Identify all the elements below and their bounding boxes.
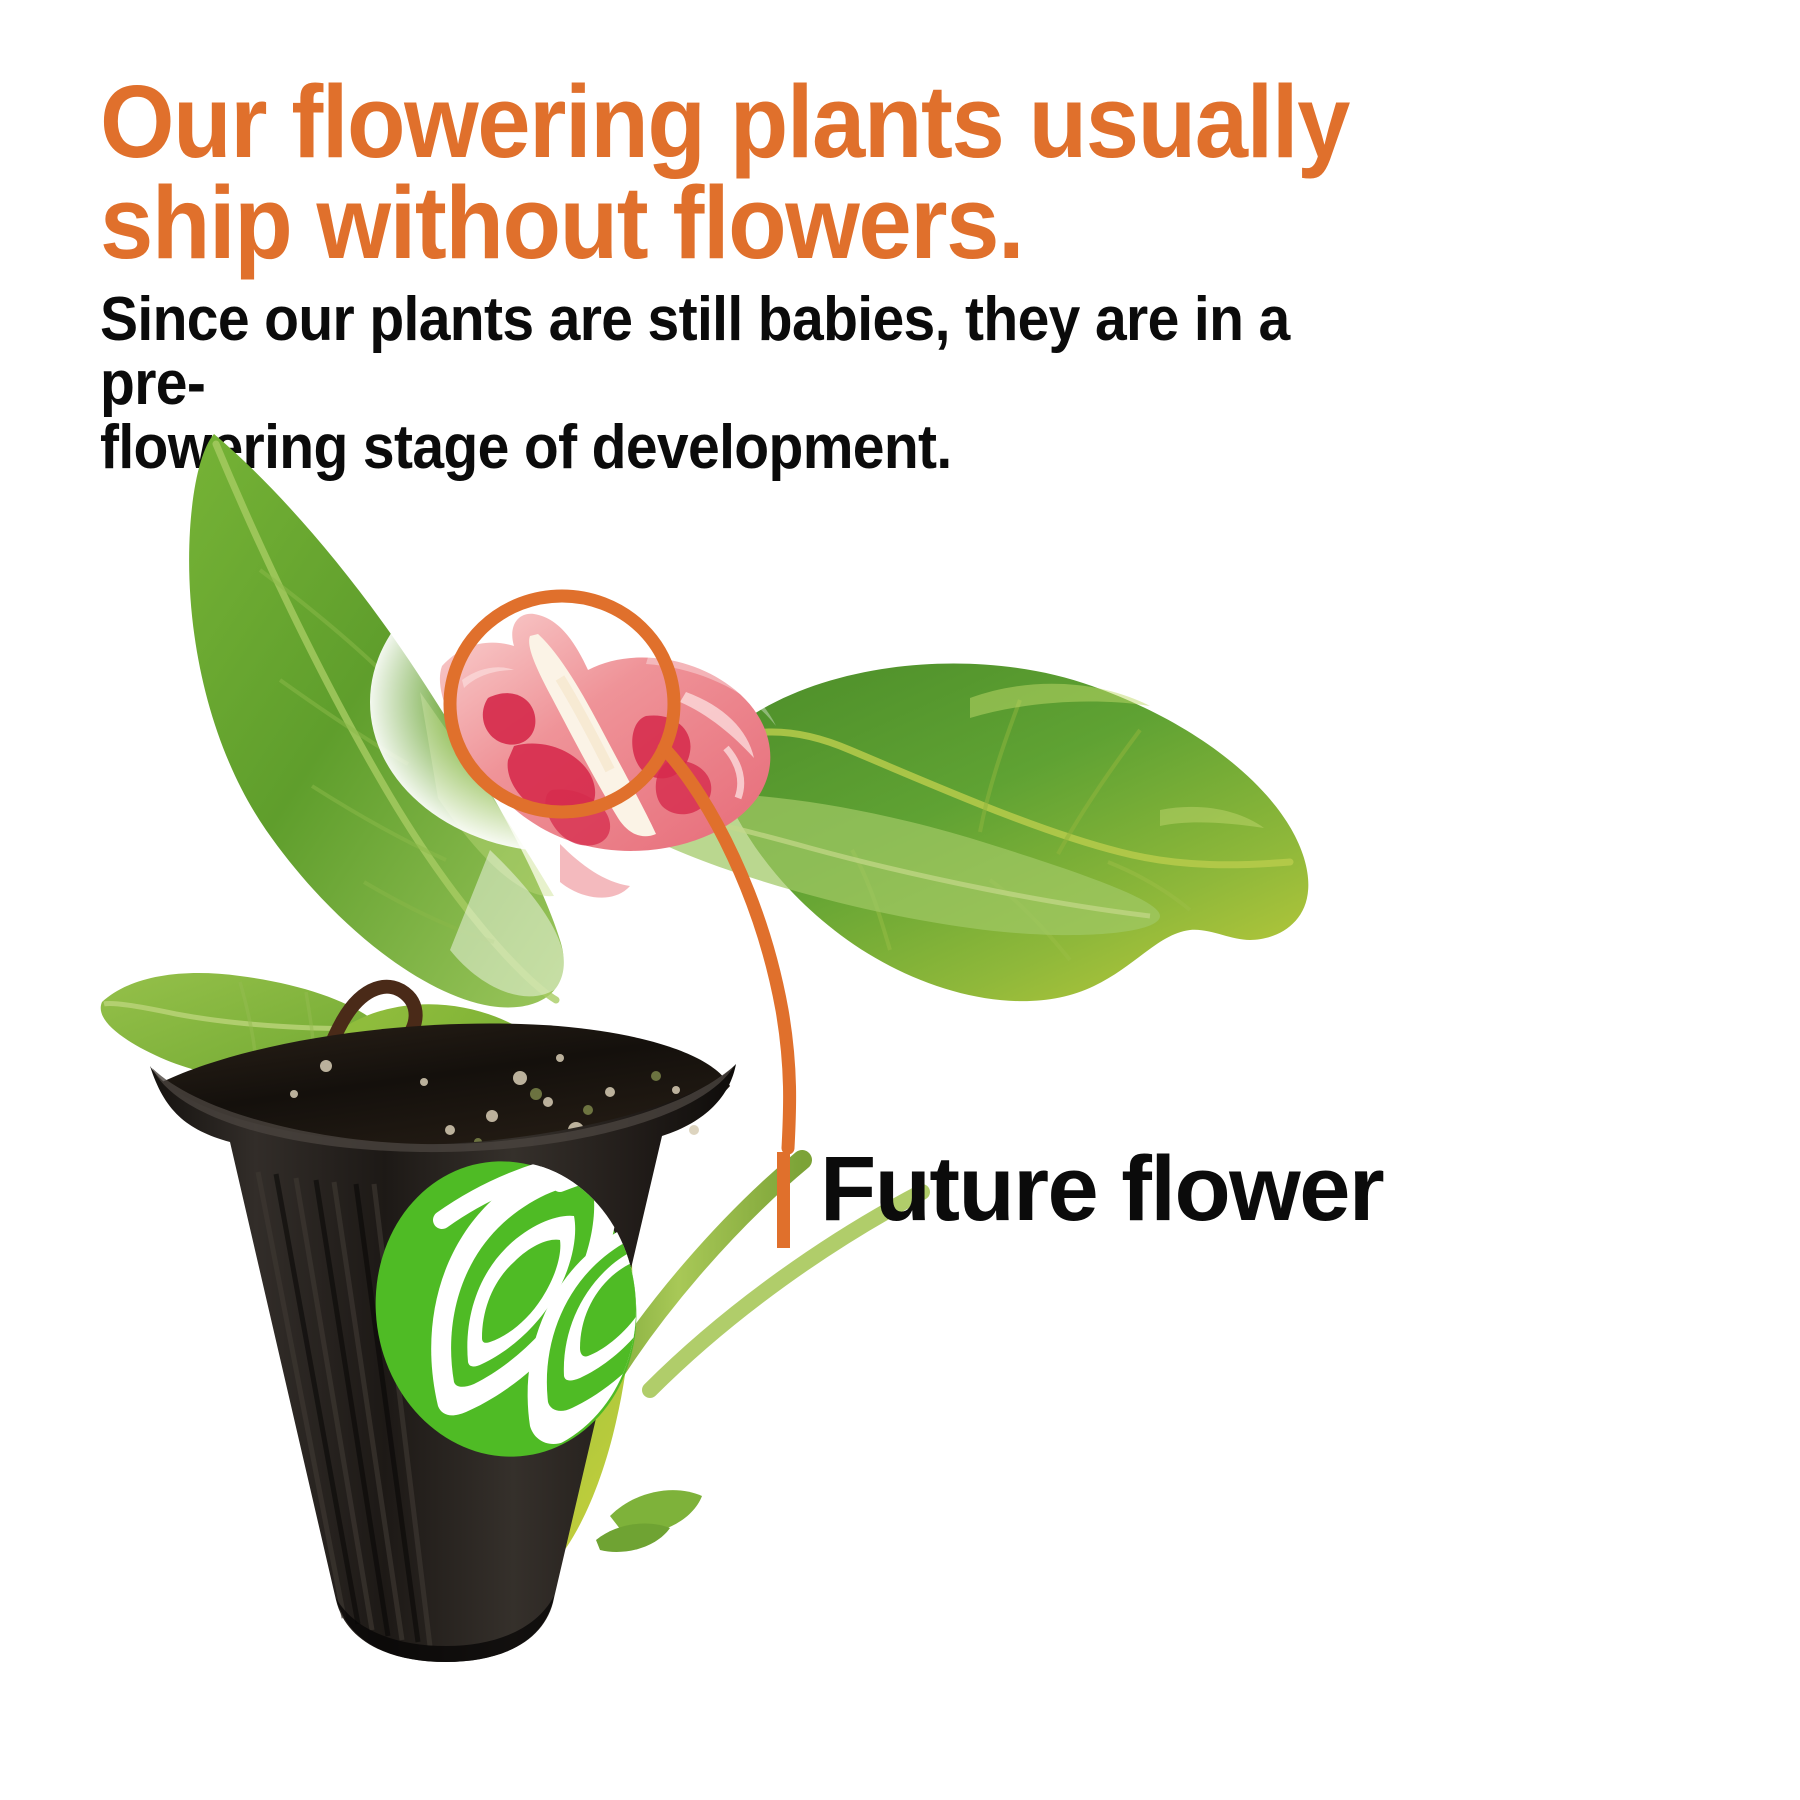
page-title: Our flowering plants usually ship withou…	[100, 72, 1421, 274]
nursery-pot	[150, 1023, 736, 1662]
promo-image: Our flowering plants usually ship withou…	[0, 0, 1800, 1800]
plant-photo	[90, 430, 1350, 1740]
callout-tick-marker	[777, 1152, 790, 1248]
callout-label: Future flower	[820, 1143, 1383, 1235]
